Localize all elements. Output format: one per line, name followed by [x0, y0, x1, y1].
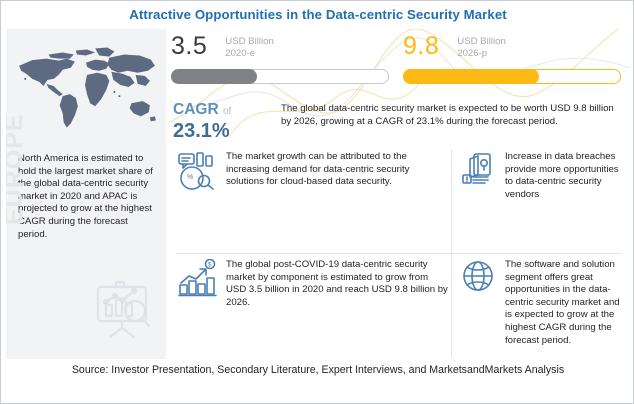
metric-2020: 3.5 USD Billion 2020-e [171, 33, 389, 84]
insight-grid: % The market growth can be attributed to… [169, 147, 630, 359]
globe-icon [461, 259, 497, 295]
metric-2020-unit: USD Billion 2020-e [225, 36, 274, 61]
growth-bar-chart-icon: $ [177, 259, 219, 297]
data-breach-icon [461, 151, 497, 187]
insight-cell-post-covid: $ The global post-COVID-19 data-centric … [177, 259, 449, 309]
market-analysis-icon: % [177, 151, 219, 191]
insight-text-data-breaches: Increase in data breaches provide more o… [505, 151, 626, 201]
cagr-block: CAGR of 23.1% [173, 101, 281, 142]
metric-2026-unit-line1: USD Billion [457, 36, 506, 48]
insight-cell-software-segment: The software and solution segment offers… [461, 259, 626, 347]
metric-2020-bar-fill [171, 69, 257, 84]
right-panel: 3.5 USD Billion 2020-e 9.8 USD Billion 2… [169, 29, 630, 359]
source-footer: Source: Investor Presentation, Secondary… [1, 363, 634, 377]
metric-2026: 9.8 USD Billion 2026-p [403, 33, 621, 84]
presentation-chart-magnifier-icon [90, 279, 154, 341]
insight-cell-data-breaches: Increase in data breaches provide more o… [461, 151, 626, 201]
metric-2020-value: 3.5 [171, 33, 207, 59]
cagr-description: The global data-centric security market … [281, 103, 621, 128]
cagr-of: of [223, 106, 231, 117]
svg-text:%: % [187, 174, 193, 181]
cagr-label: CAGR [173, 101, 219, 118]
cagr-value: 23.1% [173, 120, 281, 142]
insight-text-market-growth: The market growth can be attributed to t… [226, 151, 449, 189]
metric-2020-unit-line2: 2020-e [225, 48, 274, 60]
metric-2020-unit-line1: USD Billion [225, 36, 274, 48]
insight-text-post-covid: The global post-COVID-19 data-centric se… [226, 259, 449, 309]
grid-divider-horizontal [177, 253, 622, 254]
metric-2020-bar [171, 69, 389, 84]
metric-2026-unit-line2: 2026-p [457, 48, 506, 60]
metric-2026-bar [403, 69, 621, 84]
insight-text-software-segment: The software and solution segment offers… [505, 259, 626, 347]
left-panel: North America is estimated to hold the l… [6, 29, 166, 359]
world-map-icon [6, 31, 166, 147]
metric-2026-value: 9.8 [403, 33, 439, 59]
metric-2026-bar-fill [403, 69, 539, 84]
page-title: Attractive Opportunities in the Data-cen… [1, 7, 634, 22]
metric-2026-unit: USD Billion 2026-p [457, 36, 506, 61]
infographic-frame: Attractive Opportunities in the Data-cen… [0, 0, 634, 404]
insight-cell-market-growth: % The market growth can be attributed to… [177, 151, 449, 191]
europe-watermark: EUROPE [6, 113, 29, 225]
left-panel-text: North America is estimated to hold the l… [18, 153, 158, 241]
